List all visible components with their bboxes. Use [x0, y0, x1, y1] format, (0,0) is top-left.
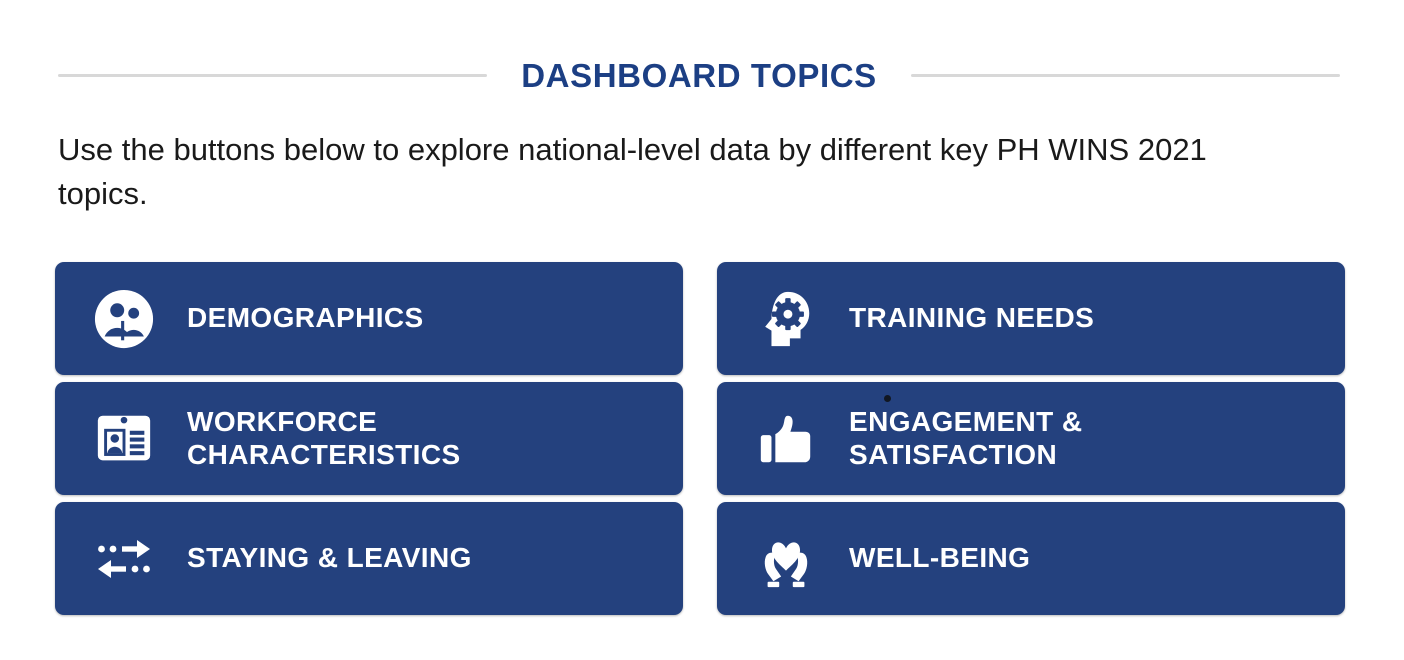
two-way-arrows-icon	[91, 526, 157, 592]
hands-heart-icon	[753, 526, 819, 592]
topic-button-workforce-characteristics[interactable]: WORKFORCE CHARACTERISTICS	[55, 382, 683, 495]
id-badge-icon	[91, 406, 157, 472]
topic-label: WELL-BEING	[849, 542, 1030, 574]
topic-button-grid: DEMOGRAPHICS	[55, 262, 1345, 615]
topic-label: ENGAGEMENT & SATISFACTION	[849, 406, 1082, 471]
topic-label: DEMOGRAPHICS	[187, 302, 424, 334]
head-gear-icon	[753, 286, 819, 352]
divider-left	[58, 74, 487, 77]
intro-paragraph: Use the buttons below to explore nationa…	[58, 128, 1298, 216]
topic-label: WORKFORCE CHARACTERISTICS	[187, 406, 461, 471]
people-circle-icon	[91, 286, 157, 352]
section-header: DASHBOARD TOPICS	[58, 52, 1340, 98]
page-title: DASHBOARD TOPICS	[521, 59, 877, 92]
topic-button-well-being[interactable]: WELL-BEING	[717, 502, 1345, 615]
topic-button-training-needs[interactable]: TRAINING NEEDS	[717, 262, 1345, 375]
cursor-artifact-dot	[884, 395, 891, 402]
topic-label: STAYING & LEAVING	[187, 542, 472, 574]
topic-button-engagement-satisfaction[interactable]: ENGAGEMENT & SATISFACTION	[717, 382, 1345, 495]
dashboard-topics-panel: DASHBOARD TOPICS Use the buttons below t…	[0, 0, 1404, 660]
topic-button-demographics[interactable]: DEMOGRAPHICS	[55, 262, 683, 375]
thumbs-up-icon	[753, 406, 819, 472]
topic-label: TRAINING NEEDS	[849, 302, 1094, 334]
divider-right	[911, 74, 1340, 77]
topic-button-staying-leaving[interactable]: STAYING & LEAVING	[55, 502, 683, 615]
